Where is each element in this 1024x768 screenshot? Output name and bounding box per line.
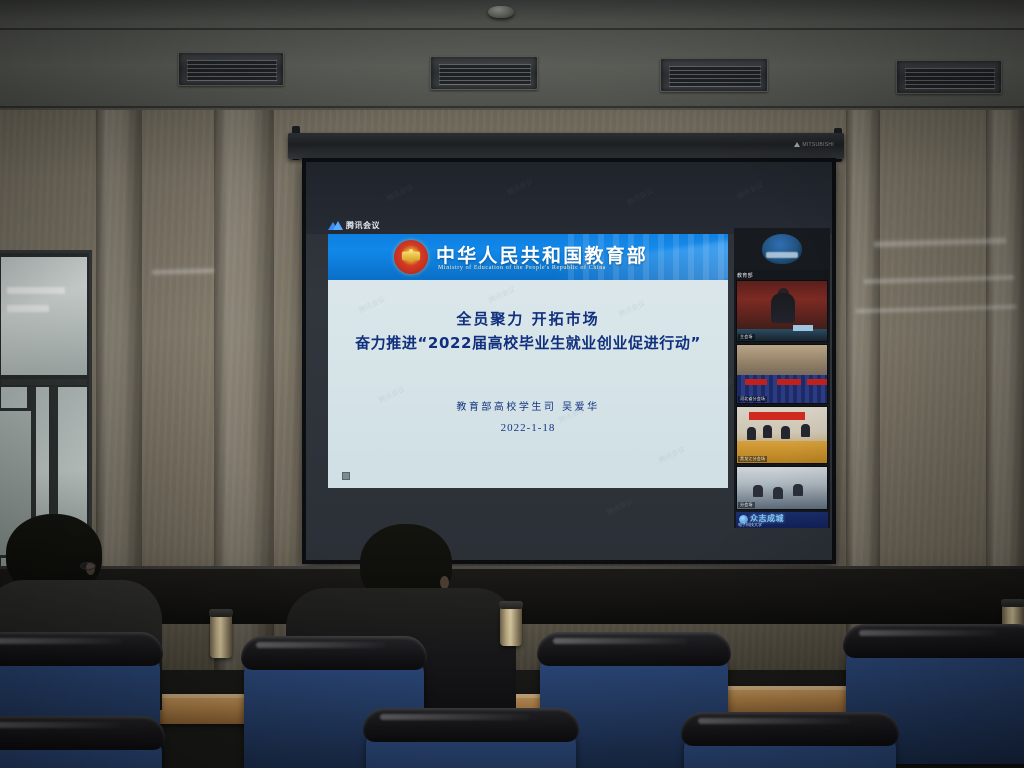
thermos-cup — [210, 614, 232, 658]
chair-headrest — [0, 716, 165, 750]
door-mullion — [1, 379, 87, 385]
slide-title-line-1: 全员聚力 开拓市场 — [328, 308, 728, 329]
red-banner — [807, 379, 827, 385]
venue-banner-subtitle: 电子科技大学 — [738, 522, 762, 528]
slide-title-line-2: 奋力推进“2022届高校毕业生就业创业促进行动” — [328, 332, 728, 353]
participant-person — [801, 424, 810, 437]
participant-name-label: 河北省分会场 — [738, 396, 767, 402]
participant-person — [763, 425, 772, 438]
cup-lid — [209, 609, 233, 617]
chair[interactable] — [0, 716, 162, 768]
air-vent — [660, 58, 768, 92]
chair[interactable] — [684, 712, 896, 768]
chair-headrest — [537, 632, 731, 666]
participant-name-label: 主会场 — [738, 334, 755, 340]
shared-slide: 中华人民共和国教育部 Ministry of Education of the … — [328, 234, 728, 488]
tencent-meeting-logo: 腾讯会议 — [328, 220, 380, 231]
air-vent — [178, 52, 284, 86]
ministry-name-cn: 中华人民共和国教育部 — [436, 241, 648, 268]
participant-tile[interactable]: 分会场 — [736, 466, 828, 510]
self-video-tile[interactable] — [734, 228, 830, 270]
participant-body — [771, 293, 795, 323]
participant-tile[interactable]: 河北省分会场 — [736, 344, 828, 404]
red-banner — [777, 379, 801, 385]
slide-body: 全员聚力 开拓市场 奋力推进“2022届高校毕业生就业创业促进行动” 教育部高校… — [328, 280, 728, 488]
participant-person — [773, 487, 783, 499]
air-vent — [430, 56, 538, 90]
dado-highlight — [0, 566, 1024, 569]
red-banner — [749, 412, 805, 420]
projection-screen: 腾讯会议 腾讯会议 腾讯会议 腾讯会议 腾讯会议 腾讯会议 腾讯会议 腾讯会议 … — [306, 162, 832, 560]
slide-header-banner: 中华人民共和国教育部 Ministry of Education of the … — [328, 234, 728, 280]
ministry-name-en: Ministry of Education of the People's Re… — [438, 265, 606, 271]
self-video-label: 教育部 — [737, 272, 753, 279]
national-emblem-icon — [394, 240, 428, 274]
venue-banner: 众志成城 电子科技大学 — [736, 512, 828, 528]
participant-name-label: 黑龙江分会场 — [738, 456, 767, 462]
participant-tile[interactable]: 主会场 — [736, 280, 828, 342]
chair-headrest — [363, 708, 579, 742]
chair[interactable] — [366, 708, 576, 768]
participant-person — [747, 427, 756, 440]
roller-brand-label: MITSUBISHI — [794, 142, 834, 148]
chair-headrest — [0, 632, 163, 666]
conference-room-photo: MITSUBISHI 腾讯会议 腾讯会议 腾讯会议 腾讯会议 腾讯会议 腾讯会议… — [0, 0, 1024, 768]
slide-date: 2022-1-18 — [328, 422, 728, 434]
thermos-cup — [500, 606, 522, 646]
cup-lid — [1001, 599, 1024, 607]
eyeglasses — [80, 562, 96, 570]
smoke-detector-icon — [488, 6, 514, 18]
chair-headrest — [843, 624, 1024, 658]
self-video-image — [762, 234, 802, 264]
chair-headrest — [241, 636, 427, 670]
participant-person — [793, 484, 803, 496]
door-glass-upper — [1, 257, 87, 375]
projector-screen-roller: MITSUBISHI — [288, 133, 844, 159]
ceiling-seam — [0, 106, 1024, 108]
cup-lid — [499, 601, 523, 609]
chair-headrest — [681, 712, 899, 746]
participant-video-column[interactable]: 教育部 主会场 河北省分会场 — [734, 228, 830, 528]
air-vent — [896, 60, 1002, 94]
tencent-meeting-mark-icon — [328, 221, 342, 230]
participant-person — [781, 426, 790, 439]
participant-name-label: 分会场 — [738, 502, 755, 508]
slide-corner-icon — [342, 472, 350, 480]
slide-author: 教育部高校学生司 吴爱华 — [328, 398, 728, 413]
participant-person — [753, 485, 763, 497]
participant-tile[interactable]: 黑龙江分会场 — [736, 406, 828, 464]
red-banner — [745, 379, 767, 385]
participant-papers — [793, 325, 813, 331]
meeting-app-name: 腾讯会议 — [346, 220, 380, 231]
ceiling-seam — [0, 28, 1024, 30]
meeting-app-topbar — [306, 162, 832, 234]
